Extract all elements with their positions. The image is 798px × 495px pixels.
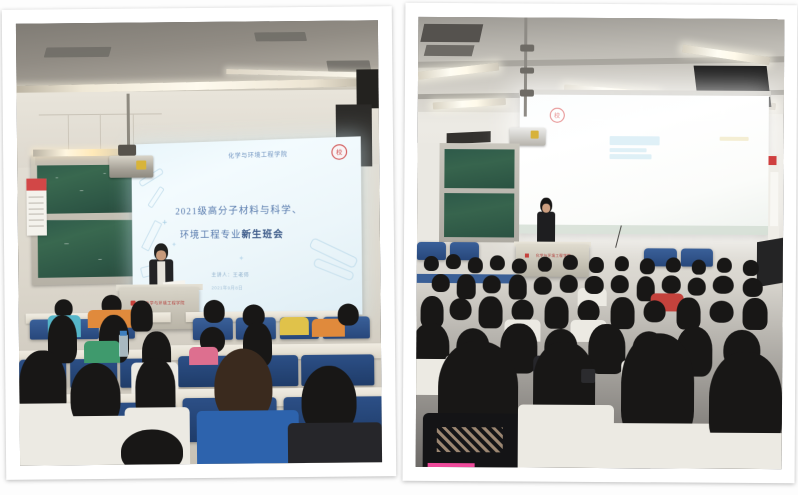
green-chalkboard-upper <box>445 149 515 188</box>
speaker-face <box>542 204 550 213</box>
wall-red-marker <box>769 156 776 165</box>
slide-subtitle: 主讲人：王老师 <box>211 272 249 279</box>
slide-school-logo-icon: 校 <box>549 108 564 123</box>
slide-title-line-2: 环境工程专业新生班会 <box>179 227 283 242</box>
slide-school-logo-icon: 校 <box>331 144 347 160</box>
photo-right-image: 校 <box>416 17 785 469</box>
projector-mount-clamp <box>520 67 535 74</box>
slide-institution-header: 化学与环境工程学院 <box>228 150 287 161</box>
slide-date: 2021年9月8日 <box>211 285 242 291</box>
seated-student-head <box>203 300 225 322</box>
collage-canvas: + ✦ ✦ 化学与环境工程学院 校 2021级高分子材料与科学、 环境工程专业新… <box>0 0 798 495</box>
slide-title-line-2-prefix: 环境工程专业 <box>179 231 241 241</box>
presenter-face <box>156 250 166 260</box>
seated-student-head <box>337 303 359 325</box>
green-chalkboard-lower <box>444 193 514 238</box>
projector-lens-icon <box>531 131 538 139</box>
doodle-plus-icon: + <box>162 218 167 228</box>
ceiling-air-vent <box>420 24 482 42</box>
slide-title-line-2-emphasis: 新生班会 <box>241 231 283 241</box>
wall-notice-board <box>770 172 778 226</box>
slide-content-block <box>610 136 660 145</box>
projector-mount-clamp <box>520 45 535 52</box>
eyeglasses-icon <box>581 369 596 383</box>
seated-student-head <box>131 301 153 332</box>
aisle-stairs <box>757 237 783 286</box>
ceiling-panel <box>254 32 307 41</box>
jacket-pink-text <box>428 463 475 469</box>
lectern-podium <box>516 245 589 277</box>
screen-bottom-edge <box>520 225 769 236</box>
black-ceiling-panel <box>447 131 491 144</box>
projector-mount-clamp <box>520 90 535 97</box>
poster-header-band <box>26 178 46 191</box>
ceiling-air-vent <box>424 45 474 56</box>
slide-content-block <box>610 148 647 153</box>
slide-title-line-1: 2021级高分子材料与科学、 <box>175 202 303 218</box>
ceiling-panel <box>44 47 112 57</box>
podium-label: 化学与环境工程学院 <box>145 300 185 306</box>
photo-right-lecture-hall[interactable]: 校 <box>403 3 798 483</box>
doodle-pen-icon <box>147 186 164 209</box>
ceiling-projector <box>109 155 153 178</box>
projector-lens-icon <box>137 160 146 169</box>
wall-dark-fixture <box>357 69 382 109</box>
lace-pattern <box>437 427 503 453</box>
green-chalkboard-lower <box>38 220 138 278</box>
slide-content-block <box>719 137 749 141</box>
doodle-star-icon: ✦ <box>238 255 244 263</box>
photo-left-classroom[interactable]: + ✦ ✦ 化学与环境工程学院 校 2021级高分子材料与科学、 环境工程专业新… <box>2 6 396 480</box>
wall-notice-poster <box>26 178 46 236</box>
projector-mount-bracket <box>118 145 136 157</box>
photo-left-image: + ✦ ✦ 化学与环境工程学院 校 2021级高分子材料与科学、 环境工程专业新… <box>16 20 382 465</box>
slide-content-block <box>610 155 652 159</box>
podium-logo-icon <box>525 254 529 258</box>
